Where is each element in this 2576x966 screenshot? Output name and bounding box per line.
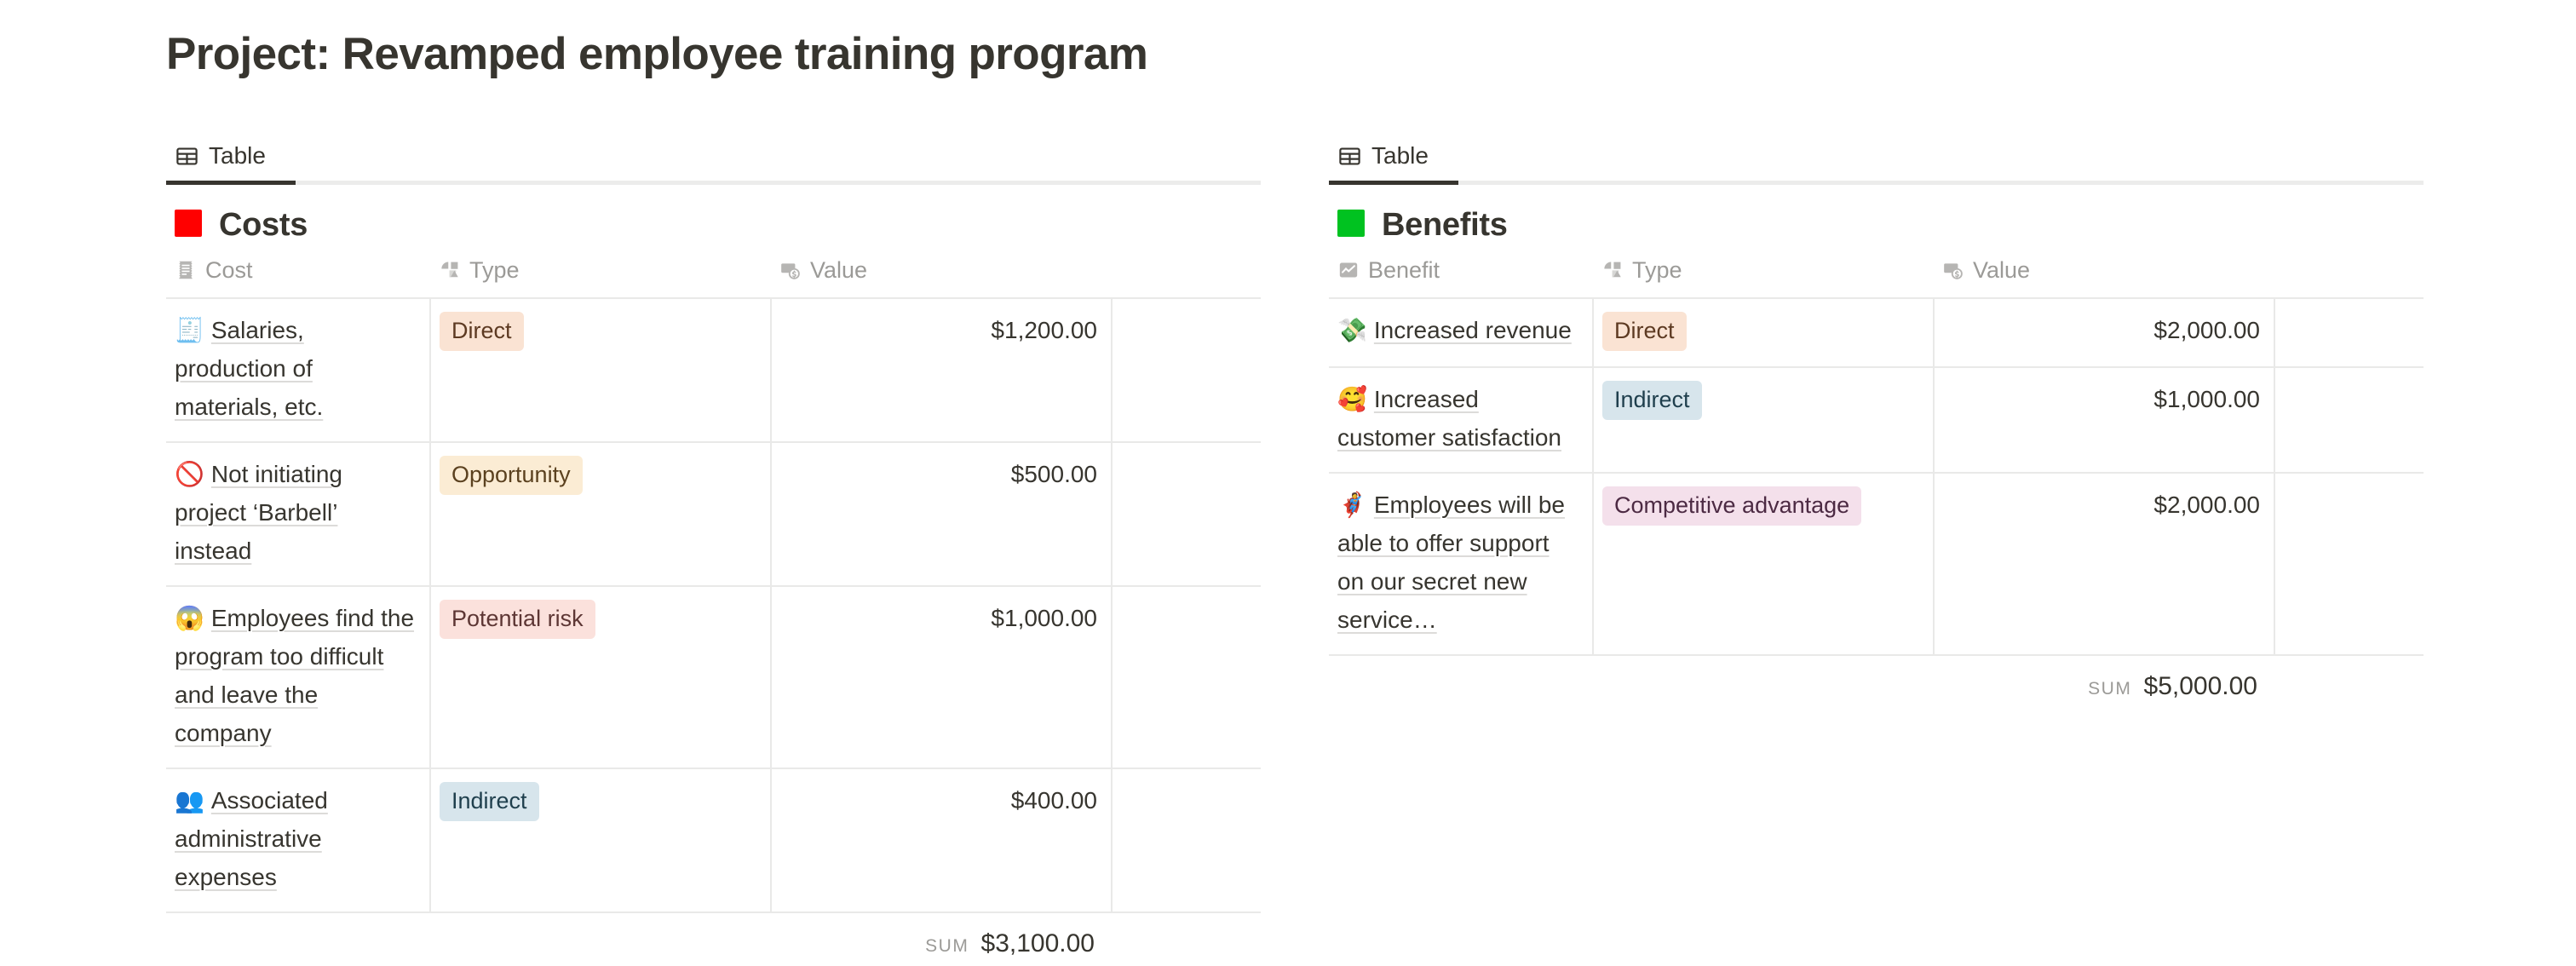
cell-pad — [1112, 586, 1261, 768]
cell-cost-name[interactable]: 🧾Salaries, production of materials, etc. — [166, 298, 430, 442]
column-header-value[interactable]: Value — [1934, 253, 2274, 298]
cell-cost-type[interactable]: Direct — [430, 298, 771, 442]
type-tag: Potential risk — [440, 600, 595, 639]
cell-cost-type[interactable]: Potential risk — [430, 586, 771, 768]
table-grid-icon — [175, 144, 199, 169]
benefits-table: Benefit — [1329, 253, 2424, 656]
cell-cost-value[interactable]: $400.00 — [771, 768, 1112, 912]
superhero-emoji-icon: 🦸 — [1337, 492, 1367, 518]
cell-benefit-name[interactable]: 🥰Increased customer satisfaction — [1329, 367, 1593, 473]
view-tab-bar: Table — [166, 136, 1261, 175]
tab-table-view[interactable]: Table — [1337, 141, 1432, 170]
row-title-link[interactable]: Employees will be able to offer support … — [1337, 492, 1565, 633]
currency-icon — [779, 259, 802, 281]
cell-pad — [1112, 442, 1261, 586]
column-header-label: Type — [469, 256, 520, 284]
type-tag: Direct — [440, 312, 524, 351]
cell-pad — [2274, 367, 2424, 473]
costs-table: Cost — [166, 253, 1261, 913]
costs-table-body: 🧾Salaries, production of materials, etc.… — [166, 298, 1261, 912]
table-row[interactable]: 👥Associated administrative expenses Indi… — [166, 768, 1261, 912]
column-header-pad — [2274, 253, 2424, 298]
cell-cost-value[interactable]: $500.00 — [771, 442, 1112, 586]
column-header-label: Type — [1632, 256, 1682, 284]
row-title-link[interactable]: Increased customer satisfaction — [1337, 386, 1561, 451]
cell-benefit-name[interactable]: 🦸Employees will be able to offer support… — [1329, 473, 1593, 655]
select-icon — [439, 259, 461, 281]
column-header-pad — [1112, 253, 1261, 298]
database-block-costs: Table Costs — [166, 136, 1261, 959]
column-header-value[interactable]: Value — [771, 253, 1112, 298]
cell-pad — [2274, 298, 2424, 367]
database-title: Costs — [219, 205, 308, 244]
line-chart-icon — [1337, 259, 1360, 281]
column-header-label: Value — [1973, 256, 2030, 284]
table-header-row: Cost — [166, 253, 1261, 298]
type-tag: Indirect — [440, 782, 539, 821]
cell-benefit-value[interactable]: $2,000.00 — [1934, 298, 2274, 367]
benefits-sum-row[interactable]: SUM $5,000.00 — [1329, 656, 2424, 702]
receipt-icon — [175, 259, 197, 281]
cell-cost-type[interactable]: Opportunity — [430, 442, 771, 586]
cell-cost-name[interactable]: 🚫Not initiating project ‘Barbell’ instea… — [166, 442, 430, 586]
sum-value: $3,100.00 — [981, 929, 1095, 959]
benefits-table-body: 💸Increased revenue Direct $2,000.00 🥰Inc… — [1329, 298, 2424, 655]
cell-pad — [1112, 298, 1261, 442]
receipt-emoji-icon: 🧾 — [175, 317, 204, 343]
cell-benefit-name[interactable]: 💸Increased revenue — [1329, 298, 1593, 367]
cell-cost-value[interactable]: $1,200.00 — [771, 298, 1112, 442]
screaming-face-emoji-icon: 😱 — [175, 605, 204, 631]
table-row[interactable]: 🦸Employees will be able to offer support… — [1329, 473, 2424, 655]
table-row[interactable]: 💸Increased revenue Direct $2,000.00 — [1329, 298, 2424, 367]
cell-benefit-type[interactable]: Indirect — [1593, 367, 1934, 473]
costs-sum-row[interactable]: SUM $3,100.00 — [166, 913, 1261, 959]
sum-label: SUM — [925, 935, 969, 957]
row-title-link[interactable]: Increased revenue — [1374, 317, 1572, 343]
type-tag: Direct — [1602, 312, 1687, 351]
page-title: Project: Revamped employee training prog… — [166, 27, 1147, 82]
database-title-row: Costs — [166, 185, 1261, 253]
tab-label: Table — [209, 141, 266, 170]
column-header-type[interactable]: Type — [1593, 253, 1934, 298]
notion-page: Project: Revamped employee training prog… — [0, 0, 2576, 966]
cell-benefit-value[interactable]: $1,000.00 — [1934, 367, 2274, 473]
green-square-icon — [1337, 208, 1370, 242]
cell-cost-name[interactable]: 😱Employees find the program too difficul… — [166, 586, 430, 768]
people-emoji-icon: 👥 — [175, 787, 204, 814]
column-header-label: Cost — [205, 256, 253, 284]
column-header-benefit[interactable]: Benefit — [1329, 253, 1593, 298]
table-row[interactable]: 😱Employees find the program too difficul… — [166, 586, 1261, 768]
table-row[interactable]: 🧾Salaries, production of materials, etc.… — [166, 298, 1261, 442]
tab-label: Table — [1371, 141, 1429, 170]
row-title-link[interactable]: Employees find the program too difficult… — [175, 605, 414, 746]
active-tab-underline — [1329, 181, 2424, 185]
column-header-label: Value — [810, 256, 867, 284]
database-title-row: Benefits — [1329, 185, 2424, 253]
table-grid-icon — [1337, 144, 1362, 169]
cell-benefit-type[interactable]: Competitive advantage — [1593, 473, 1934, 655]
table-row[interactable]: 🚫Not initiating project ‘Barbell’ instea… — [166, 442, 1261, 586]
smiling-face-with-hearts-emoji-icon: 🥰 — [1337, 386, 1367, 412]
cell-cost-type[interactable]: Indirect — [430, 768, 771, 912]
sum-value: $5,000.00 — [2144, 671, 2257, 702]
column-header-cost[interactable]: Cost — [166, 253, 430, 298]
type-tag: Opportunity — [440, 456, 583, 495]
currency-icon — [1942, 259, 1964, 281]
column-header-label: Benefit — [1368, 256, 1440, 284]
cell-pad — [1112, 768, 1261, 912]
red-square-icon — [175, 208, 207, 242]
type-tag: Competitive advantage — [1602, 486, 1861, 526]
type-tag: Indirect — [1602, 381, 1702, 420]
money-with-wings-emoji-icon: 💸 — [1337, 317, 1367, 343]
select-icon — [1601, 259, 1624, 281]
cell-benefit-value[interactable]: $2,000.00 — [1934, 473, 2274, 655]
tab-table-view[interactable]: Table — [175, 141, 269, 170]
active-tab-underline — [166, 181, 1261, 185]
table-row[interactable]: 🥰Increased customer satisfaction Indirec… — [1329, 367, 2424, 473]
prohibited-emoji-icon: 🚫 — [175, 461, 204, 487]
cell-cost-value[interactable]: $1,000.00 — [771, 586, 1112, 768]
database-title: Benefits — [1382, 205, 1508, 244]
database-block-benefits: Table Benefits — [1329, 136, 2424, 702]
cell-benefit-type[interactable]: Direct — [1593, 298, 1934, 367]
cell-cost-name[interactable]: 👥Associated administrative expenses — [166, 768, 430, 912]
sum-label: SUM — [2088, 678, 2131, 700]
view-tab-bar: Table — [1329, 136, 2424, 175]
table-header-row: Benefit — [1329, 253, 2424, 298]
column-header-type[interactable]: Type — [430, 253, 771, 298]
cell-pad — [2274, 473, 2424, 655]
